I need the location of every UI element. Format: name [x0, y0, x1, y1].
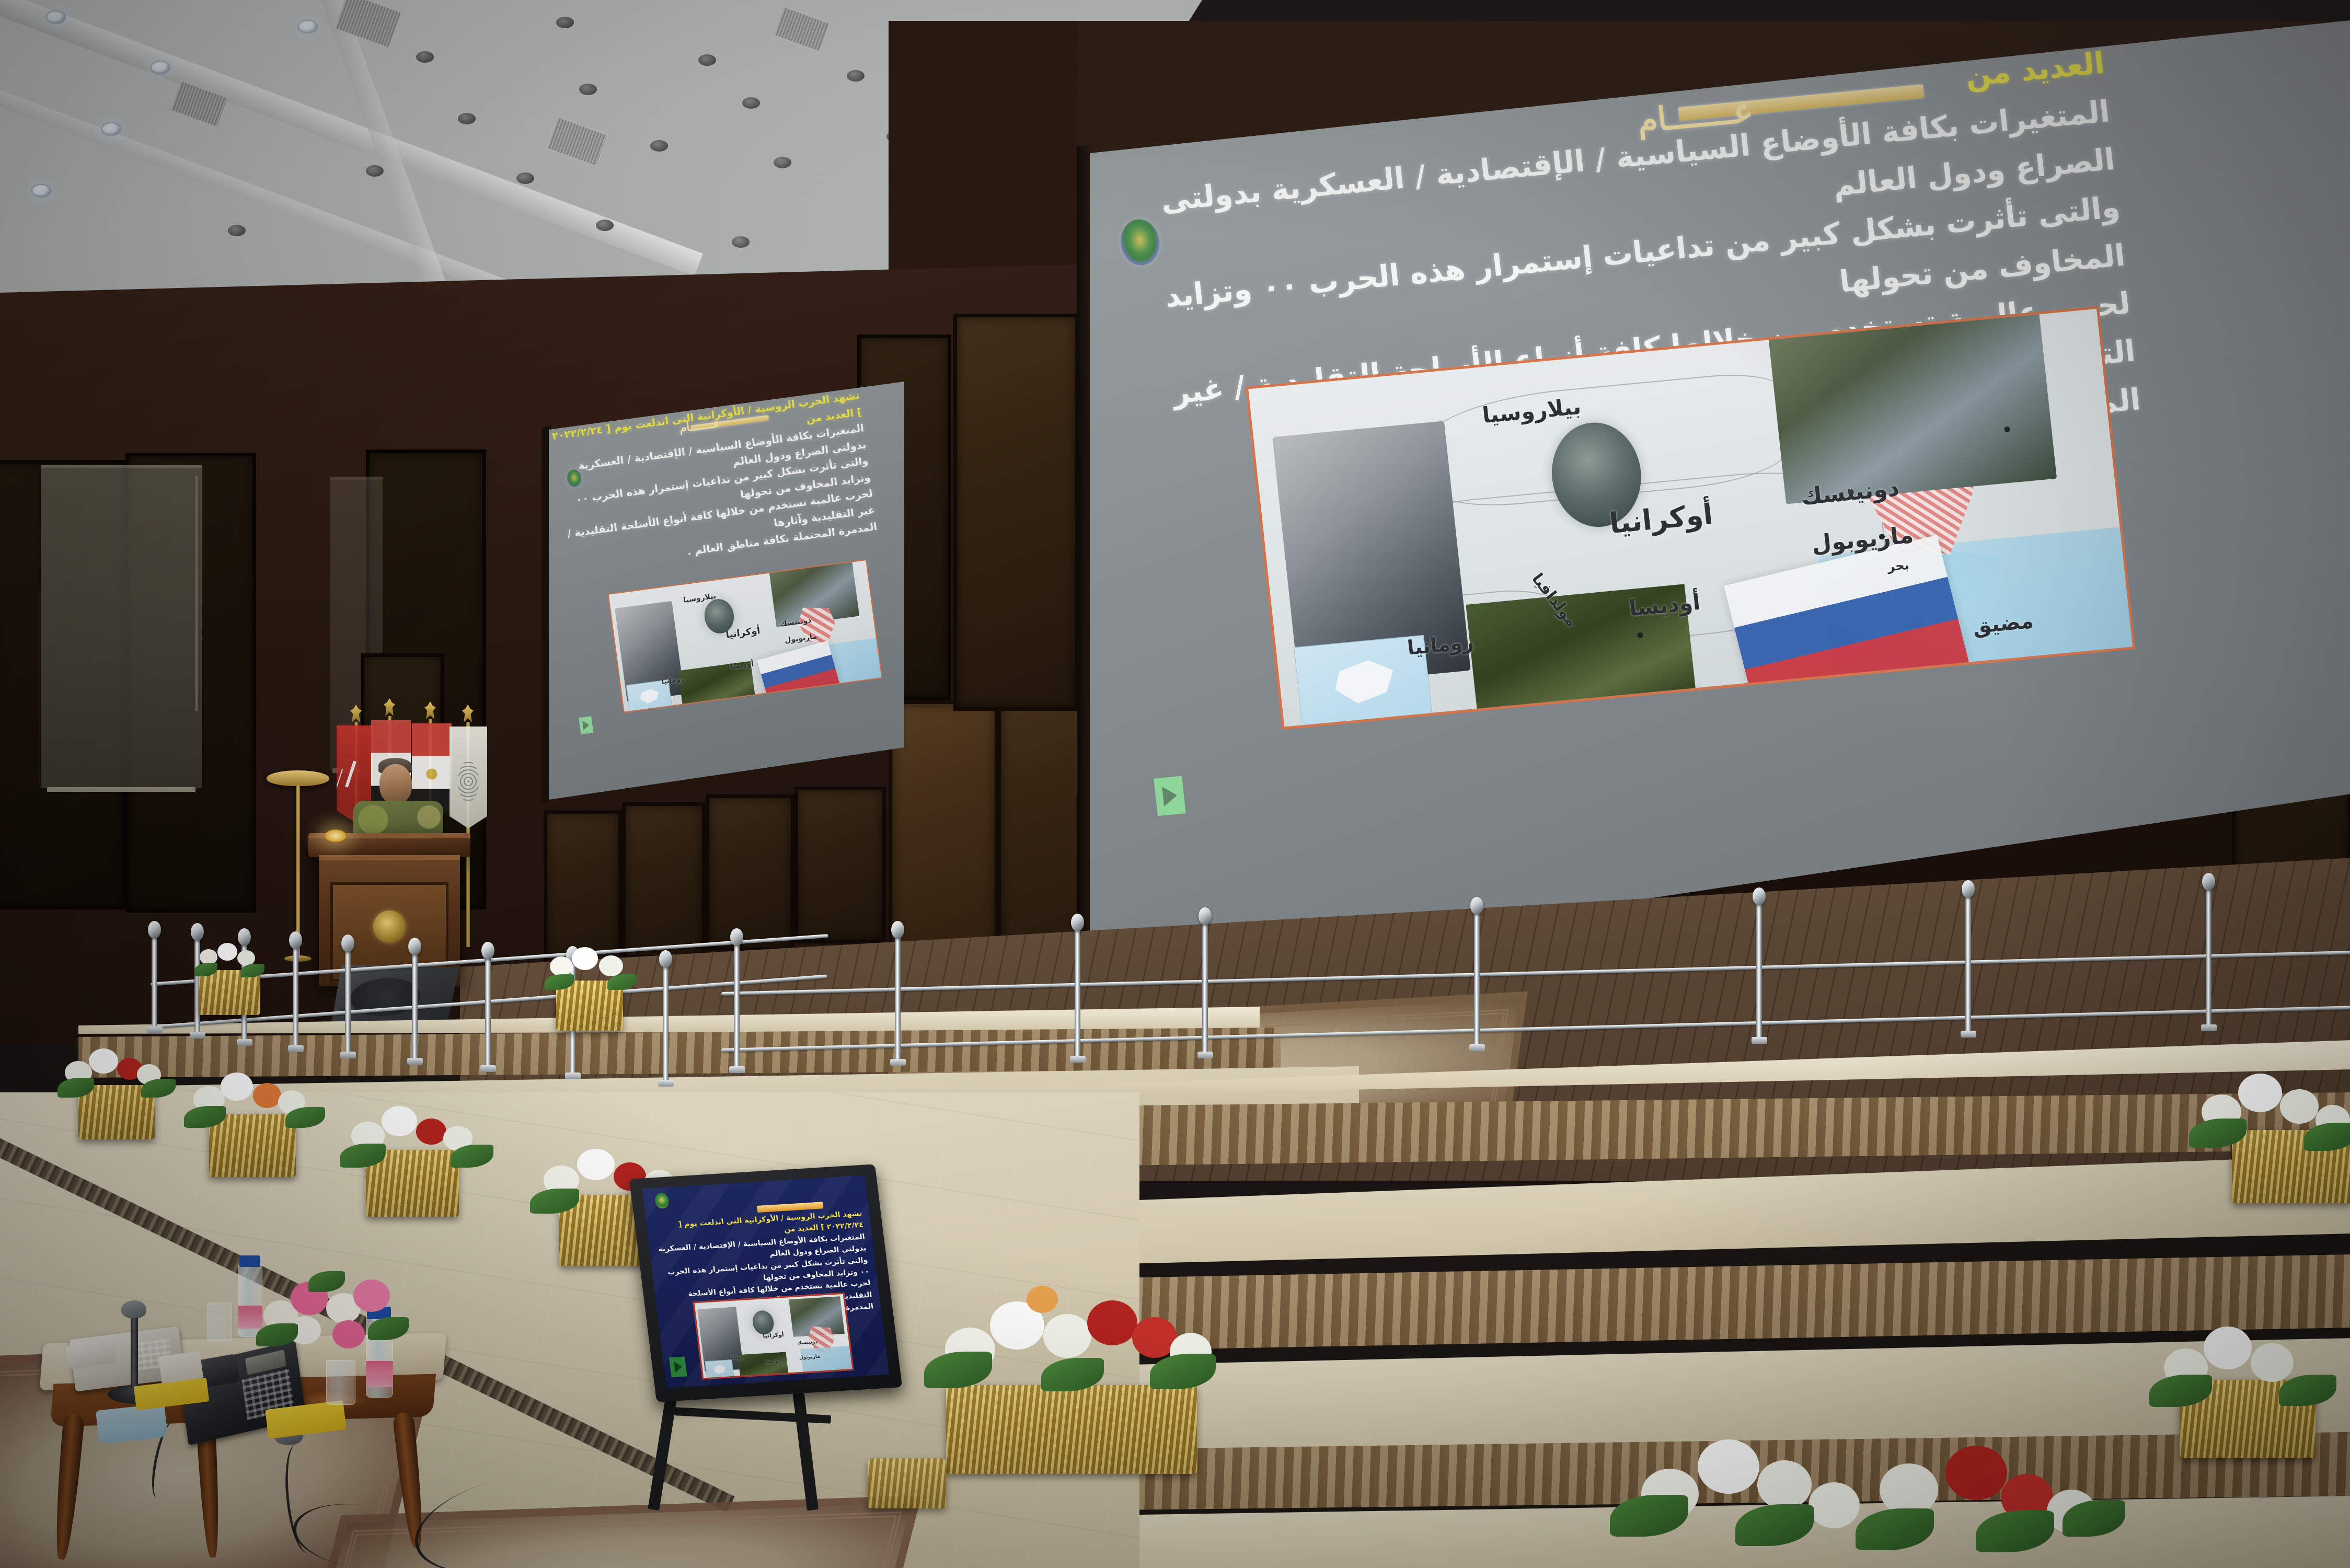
flower-petal — [2251, 1343, 2294, 1382]
map-label-odesa: أوديسا — [765, 1358, 780, 1365]
flower-leaf — [2304, 1123, 2350, 1151]
flower-leaf — [1041, 1358, 1104, 1391]
planter — [868, 1458, 946, 1508]
flower-leaf — [2279, 1375, 2336, 1406]
soldiers-photo — [738, 1352, 789, 1379]
wall-panel — [794, 787, 886, 943]
flower-petal — [550, 956, 573, 976]
downlight-icon — [732, 236, 750, 248]
railing-finial — [1470, 897, 1483, 915]
railing-post — [152, 937, 157, 1031]
railing-base — [407, 1058, 423, 1065]
monitor-screen: تشهد الحرب الروسية / الأوكرانية التى اند… — [642, 1175, 889, 1388]
slide-map-image: أوكرانيا رومانيا أوديسا دونيتسك ماريوبول — [693, 1293, 854, 1380]
play-triangle-icon — [673, 1361, 683, 1373]
railing-post — [1075, 929, 1080, 1059]
flower-petal — [599, 955, 623, 976]
railing-finial — [341, 935, 354, 952]
flower-arrangement — [547, 945, 636, 994]
auditorium-photo: عـــــــام تشهد الحرب الروسية / الأوكران… — [0, 0, 2350, 1568]
flower-arrangement-row — [1610, 1406, 2122, 1568]
bottle-cap — [239, 1255, 260, 1267]
flower-petal — [577, 1149, 615, 1180]
floor-lamp-shade — [267, 770, 329, 786]
downlight-icon — [458, 113, 476, 124]
wall-panel — [889, 700, 998, 972]
flower-petal — [1880, 1463, 1938, 1516]
flower-leaf — [607, 974, 637, 990]
flower-arrangement — [345, 1100, 481, 1171]
downlight-icon — [556, 17, 574, 28]
flower-leaf — [1856, 1508, 1934, 1550]
railing-base — [565, 1073, 581, 1079]
flower-leaf — [240, 964, 264, 977]
slide-next-button[interactable] — [1154, 776, 1185, 816]
flower-petal — [416, 1119, 446, 1145]
flower-petal — [1757, 1460, 1812, 1509]
flower-petal — [2280, 1089, 2319, 1124]
flower-petal — [89, 1048, 118, 1074]
railing-post — [1474, 913, 1480, 1047]
flower-leaf — [194, 963, 217, 976]
flower-petal — [217, 943, 237, 961]
tissue-sheets — [158, 1351, 203, 1384]
railing-post — [293, 947, 298, 1050]
railing-base — [729, 1066, 745, 1073]
railing-finial — [1199, 907, 1212, 925]
railing-finial — [481, 942, 494, 960]
flower-leaf — [924, 1352, 992, 1388]
flower-arrangement-large — [924, 1270, 1217, 1401]
flower-arrangement — [2153, 1312, 2331, 1406]
railing-finial — [730, 928, 743, 946]
flower-leaf — [1735, 1504, 1814, 1546]
downlight-icon — [102, 123, 120, 135]
railing-post — [1965, 896, 1971, 1035]
flower-leaf — [1976, 1511, 2054, 1552]
downlight-icon — [516, 172, 534, 184]
table-flower-arrangement — [258, 1273, 405, 1357]
railing-base — [1752, 1037, 1767, 1044]
railing-base — [1197, 1052, 1213, 1058]
shoigu-putin-photo — [1768, 307, 2057, 504]
railing-base — [890, 1059, 906, 1066]
flower-leaf — [256, 1323, 298, 1346]
railing-post — [485, 958, 491, 1069]
downlight-icon — [596, 220, 614, 231]
black-sea — [800, 1346, 854, 1375]
flower-arrangement — [63, 1043, 167, 1101]
microphone-stand — [131, 1312, 138, 1388]
railing-finial — [2202, 873, 2215, 891]
flower-petal — [1808, 1482, 1860, 1528]
flower-petal — [1698, 1439, 1759, 1494]
downlight-icon — [847, 70, 865, 82]
downlight-icon — [299, 21, 317, 32]
flag-cloth — [450, 727, 487, 828]
railing-post — [734, 944, 740, 1069]
downlight-icon — [32, 185, 50, 197]
downlight-icon — [47, 11, 65, 23]
railing-finial — [148, 921, 161, 939]
railing-base — [288, 1045, 304, 1052]
downlight-icon — [698, 54, 716, 66]
flower-petal — [2204, 1327, 2252, 1369]
railing-finial — [1071, 914, 1084, 931]
map-label-ukraine: أوكرانيا — [762, 1331, 784, 1339]
downlight-icon — [228, 225, 246, 236]
downlight-icon — [742, 97, 760, 109]
flower-arrangement — [188, 1066, 314, 1132]
flower-petal — [332, 1320, 365, 1348]
map-label-mariupol: ماريوبول — [784, 632, 817, 645]
railing-finial — [191, 923, 204, 941]
railing-base — [190, 1032, 205, 1039]
flower-petal — [1027, 1286, 1058, 1313]
wall-panel — [622, 802, 706, 959]
downlight-icon — [366, 165, 384, 177]
flower-arrangement — [194, 941, 268, 983]
flower-petal — [1043, 1314, 1091, 1358]
flower-leaf — [1150, 1354, 1216, 1389]
railing-finial — [289, 931, 302, 949]
flower-leaf — [530, 1189, 579, 1214]
microphone-head[interactable] — [121, 1300, 146, 1318]
downlight-icon — [650, 140, 668, 152]
play-triangle-icon — [582, 720, 590, 730]
railing-base — [237, 1039, 252, 1046]
military-emblem-icon — [654, 1192, 670, 1208]
flower-leaf — [184, 1106, 226, 1128]
blind-cord[interactable] — [195, 476, 198, 711]
podium-reading-lamp — [324, 829, 347, 843]
map-label-sea: بحر — [1887, 558, 1910, 574]
flower-petal — [572, 947, 598, 970]
flower-leaf — [1610, 1495, 1688, 1537]
flower-leaf — [2149, 1375, 2212, 1407]
railing-finial — [1753, 887, 1766, 905]
railing-post — [663, 966, 669, 1084]
railing-post — [1202, 923, 1208, 1055]
railing-base — [2201, 1024, 2217, 1031]
railing-finial — [891, 921, 904, 939]
railing-post — [412, 953, 418, 1062]
railing-post — [2206, 889, 2211, 1029]
table-leg — [51, 1413, 85, 1560]
bottle-label — [366, 1361, 393, 1387]
inset-locator-map — [705, 1359, 734, 1379]
drinking-glass[interactable] — [326, 1360, 355, 1405]
wall-panel — [953, 314, 1079, 711]
flower-leaf — [57, 1078, 94, 1098]
downlight-icon — [152, 62, 169, 73]
downlight-icon — [579, 84, 597, 95]
flower-leaf — [2189, 1119, 2247, 1148]
flower-petal — [2238, 1074, 2282, 1112]
flower-petal — [382, 1106, 417, 1136]
side-projection-screen: عـــــــام تشهد الحرب الروسية / الأوكران… — [549, 382, 904, 800]
flower-leaf — [368, 1317, 409, 1340]
confidence-monitor[interactable]: تشهد الحرب الروسية / الأوكرانية التى اند… — [629, 1164, 902, 1402]
flower-arrangement — [2194, 1061, 2350, 1150]
speaker-head — [379, 764, 412, 804]
slide-next-button[interactable] — [669, 1356, 687, 1377]
railing-base — [1961, 1031, 1976, 1037]
railing-finial — [1962, 880, 1975, 898]
map-label-romania: رومانيا — [728, 1355, 743, 1361]
flower-leaf — [340, 1144, 386, 1168]
railing-base — [1070, 1056, 1086, 1063]
railing-post — [895, 937, 901, 1062]
flower-petal — [1087, 1300, 1137, 1345]
flower-leaf — [308, 1271, 345, 1292]
railing-post — [1756, 903, 1762, 1040]
railing-post — [345, 950, 351, 1056]
railing-finial — [408, 938, 421, 955]
railing-base — [1469, 1044, 1485, 1051]
wall-panel — [706, 794, 794, 951]
wall-panel — [544, 810, 622, 967]
slide-map-image: بيلاروسيا أوكرانيا رومانيا أوديسا دونيتس… — [607, 559, 882, 713]
flower-petal — [221, 1073, 253, 1101]
slide-next-button[interactable] — [579, 716, 593, 734]
flower-leaf — [545, 974, 574, 990]
downlight-icon — [416, 51, 434, 63]
flower-petal — [353, 1279, 390, 1312]
zelensky-portrait — [751, 1310, 775, 1335]
railing-finial — [659, 950, 672, 968]
railing-base — [147, 1027, 163, 1033]
railing-base — [340, 1052, 356, 1058]
podium-crest-icon — [373, 910, 406, 943]
russian-flag — [757, 641, 839, 703]
downlight-icon — [774, 157, 791, 168]
flower-petal — [1945, 1446, 2007, 1500]
railing-base — [658, 1080, 674, 1087]
railing-base — [480, 1065, 496, 1072]
drinking-glass-2[interactable] — [207, 1302, 232, 1342]
window-blind[interactable] — [41, 465, 202, 788]
face-mask[interactable] — [96, 1403, 168, 1444]
flower-petal — [253, 1083, 281, 1108]
play-triangle-icon — [1162, 786, 1178, 806]
